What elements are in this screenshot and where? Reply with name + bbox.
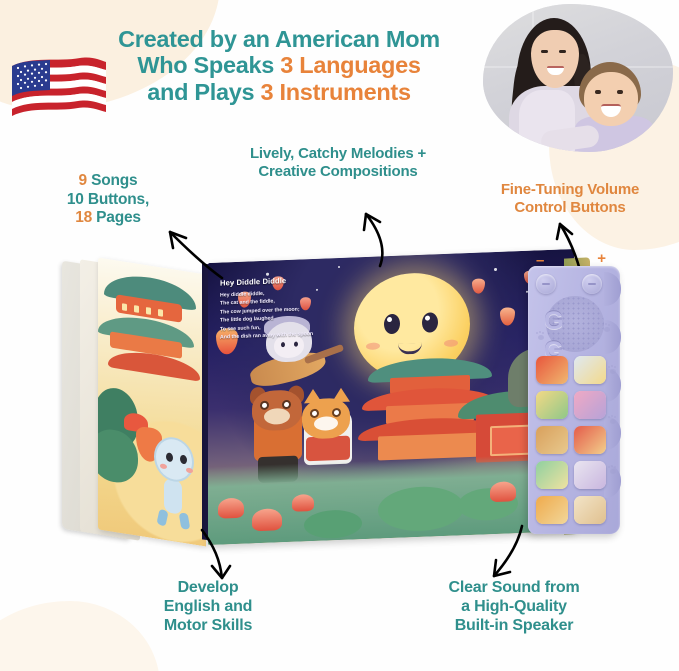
- callout-volume-line-2: Control Buttons: [466, 199, 674, 217]
- callout-specs-songs-count: 9: [79, 172, 87, 189]
- headline-line-1: Created by an American Mom: [84, 26, 474, 52]
- callout-specs-line-3: 18 Pages: [38, 209, 178, 228]
- spoon-character-eye-left: [166, 452, 173, 462]
- left-page-window-3: [146, 307, 151, 315]
- lotus-flower: [218, 498, 244, 519]
- callout-speaker-line-3: Built-in Speaker: [408, 616, 620, 635]
- callout-specs: 9 Songs 10 Buttons, 18 Pages: [38, 172, 178, 228]
- paw-print-icon: [608, 416, 617, 424]
- spoon-character-leg-left: [156, 508, 168, 526]
- button-artwork: [574, 356, 606, 384]
- rhyme-title: Hey Diddle Diddle: [220, 273, 360, 287]
- sky-lantern: [500, 307, 515, 326]
- brand-logo: G G: [544, 306, 606, 336]
- paw-print-icon: [608, 466, 617, 474]
- paw-print-icon: [536, 332, 545, 340]
- sound-button-train[interactable]: [536, 356, 568, 384]
- sound-module: G G: [528, 266, 620, 534]
- headline-line-3: and Plays 3 Instruments: [84, 79, 474, 105]
- sound-button-girl[interactable]: [574, 391, 606, 419]
- lotus-flower: [490, 481, 516, 502]
- mom-and-baby-photo: [483, 4, 673, 152]
- button-artwork: [536, 356, 568, 384]
- button-artwork: [536, 496, 568, 524]
- callout-skills-line-2: English and: [118, 597, 298, 616]
- scallop-bump: [604, 272, 621, 306]
- sound-button-clock[interactable]: [536, 426, 568, 454]
- callout-speaker-line-2: a High-Quality: [408, 597, 620, 616]
- button-artwork: [536, 461, 568, 489]
- volume-down-button[interactable]: [536, 274, 556, 294]
- book-page-main: Hey Diddle Diddle Hey diddle diddle, The…: [208, 249, 574, 545]
- arrow-to-speaker: [478, 524, 534, 586]
- spoon-character-body: [164, 478, 182, 515]
- arrow-to-skills: [188, 528, 240, 588]
- infographic-root: Created by an American Mom Who Speaks 3 …: [0, 0, 679, 671]
- sound-button-dinosaur[interactable]: [536, 461, 568, 489]
- button-artwork: [574, 461, 606, 489]
- lotus-flower: [252, 508, 282, 531]
- lotus-flower: [292, 494, 314, 512]
- volume-up-button[interactable]: [582, 274, 602, 294]
- spoon-character-leg-right: [179, 513, 191, 529]
- button-artwork: [536, 426, 568, 454]
- callout-melodies-line-1: Lively, Catchy Melodies +: [198, 145, 478, 163]
- baby-eye-right: [617, 90, 623, 94]
- callout-volume-line-1: Fine-Tuning Volume: [466, 181, 674, 199]
- callout-specs-line-1: 9 Songs: [38, 172, 178, 191]
- left-page-window-1: [122, 303, 127, 311]
- sound-button-bed[interactable]: [574, 426, 606, 454]
- sound-button-children[interactable]: [536, 391, 568, 419]
- arrow-to-specs: [160, 222, 230, 282]
- spoon-character-eye-right: [180, 454, 187, 464]
- headline: Created by an American Mom Who Speaks 3 …: [84, 26, 474, 105]
- callout-speaker: Clear Sound from a High-Quality Built-in…: [408, 578, 620, 636]
- star: [494, 268, 497, 271]
- button-artwork: [574, 496, 606, 524]
- cat-character-skirt: [306, 436, 350, 462]
- headline-line-2-accent: 3 Languages: [280, 52, 420, 78]
- callout-melodies-line-2: Creative Compositions: [198, 163, 478, 181]
- spoon-character-head: [154, 434, 194, 484]
- header-banner: Created by an American Mom Who Speaks 3 …: [0, 0, 679, 150]
- arrow-to-melodies: [352, 206, 400, 268]
- baby-face: [584, 72, 638, 126]
- sky-lantern: [472, 278, 485, 293]
- sound-button-lion[interactable]: [536, 496, 568, 524]
- callout-specs-line-2: 10 Buttons,: [38, 191, 178, 210]
- sound-button-penguin[interactable]: [574, 356, 606, 384]
- paw-print-icon: [602, 324, 611, 332]
- book-page-left: [98, 257, 206, 546]
- callout-specs-pages-label: Pages: [92, 209, 141, 226]
- headline-line-2-plain: Who Speaks: [137, 52, 280, 78]
- button-artwork: [574, 426, 606, 454]
- sound-button-owl[interactable]: [574, 496, 606, 524]
- button-artwork: [574, 391, 606, 419]
- star: [266, 273, 269, 276]
- left-page-window-2: [134, 305, 139, 313]
- volume-plus-label: +: [597, 250, 606, 267]
- callout-volume: Fine-Tuning Volume Control Buttons: [466, 181, 674, 217]
- callout-skills-line-3: Motor Skills: [118, 616, 298, 635]
- callout-specs-pages-count: 18: [75, 209, 92, 226]
- baby-eye-left: [595, 90, 601, 94]
- headline-line-3-accent: 3 Instruments: [261, 79, 411, 105]
- left-page-window-4: [158, 309, 163, 317]
- callout-specs-songs-label: Songs: [87, 172, 137, 189]
- mom-eye-left: [541, 50, 548, 53]
- sound-button-horse[interactable]: [574, 461, 606, 489]
- headline-line-2: Who Speaks 3 Languages: [84, 52, 474, 78]
- paw-print-icon: [608, 366, 617, 374]
- mom-eye-right: [559, 50, 566, 53]
- sound-button-grid: [536, 356, 608, 524]
- rhyme-text-block: Hey Diddle Diddle Hey diddle diddle, The…: [220, 273, 360, 342]
- star: [338, 266, 340, 268]
- headline-line-3-plain: and Plays: [147, 79, 260, 105]
- callout-melodies: Lively, Catchy Melodies + Creative Compo…: [198, 145, 478, 181]
- button-artwork: [536, 391, 568, 419]
